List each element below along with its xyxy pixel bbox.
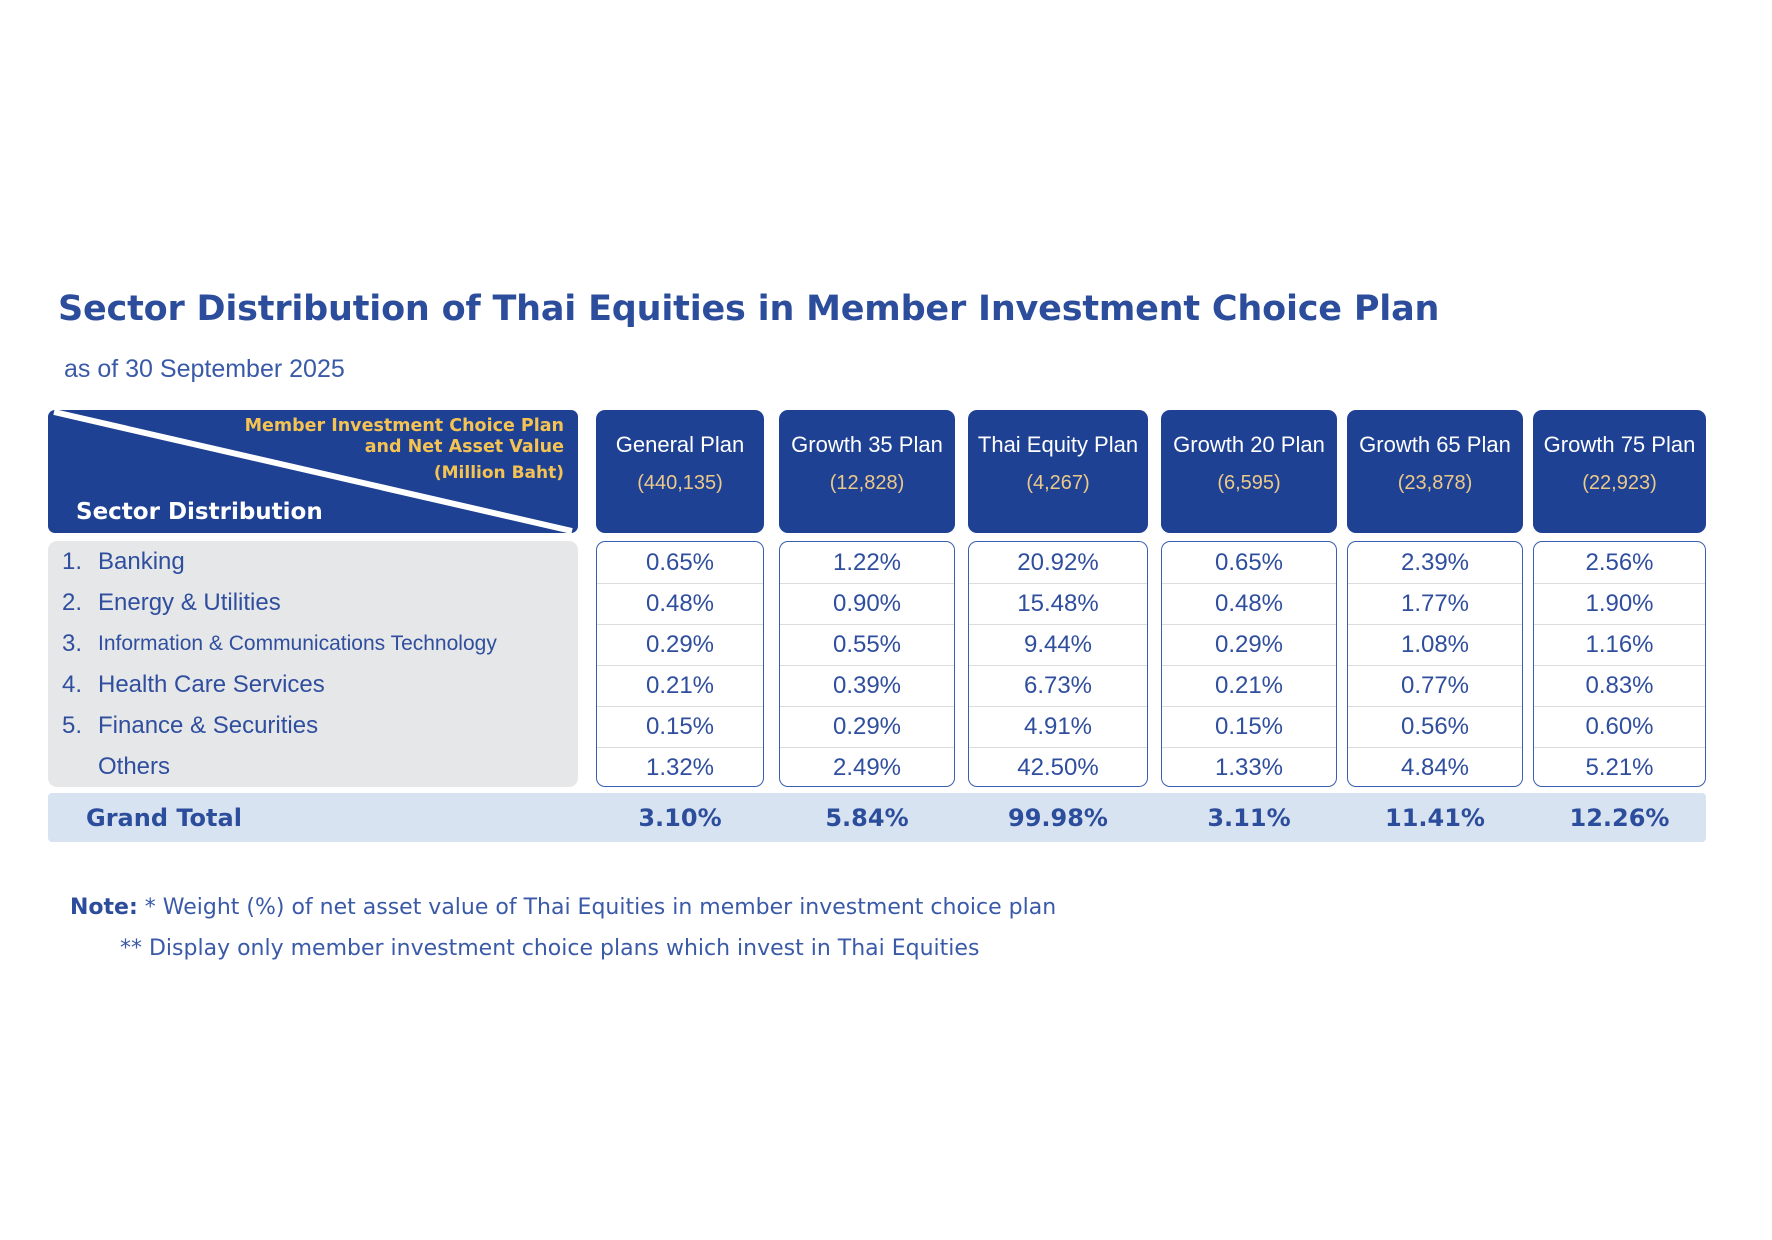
corner-header-unit: (Million Baht): [245, 463, 564, 484]
column-header-name: Growth 35 Plan: [791, 432, 943, 458]
table-cell: 1.32%: [597, 747, 763, 788]
page-title: Sector Distribution of Thai Equities in …: [58, 289, 1439, 329]
column-header-growth-75-plan: Growth 75 Plan (22,923): [1533, 410, 1706, 533]
corner-header-line1: Member Investment Choice Plan: [245, 416, 564, 437]
column-header-nav: (23,878): [1398, 472, 1473, 495]
corner-header-line2: and Net Asset Value: [245, 437, 564, 458]
sector-distribution-table: Member Investment Choice Plan and Net As…: [48, 410, 1706, 865]
table-cell: 42.50%: [969, 747, 1147, 788]
table-cell: 0.29%: [780, 706, 954, 747]
table-cell: 20.92%: [969, 542, 1147, 583]
grand-total-cell: 3.10%: [596, 793, 764, 842]
grand-total-row: Grand Total 3.10% 5.84% 99.98% 3.11% 11.…: [48, 793, 1706, 842]
data-column-growth-65-plan: 2.39% 1.77% 1.08% 0.77% 0.56% 4.84%: [1347, 541, 1523, 787]
corner-header-cell: Member Investment Choice Plan and Net As…: [48, 410, 578, 533]
table-row-label-ict: 3. Information & Communications Technolo…: [48, 623, 578, 664]
corner-header-axis-label: Member Investment Choice Plan and Net As…: [245, 416, 564, 483]
sector-label-column: 1. Banking 2. Energy & Utilities 3. Info…: [48, 541, 578, 787]
table-cell: 4.84%: [1348, 747, 1522, 788]
table-cell: 0.83%: [1534, 665, 1705, 706]
table-row-label-health-care-services: 4. Health Care Services: [48, 664, 578, 705]
data-column-growth-35-plan: 1.22% 0.90% 0.55% 0.39% 0.29% 2.49%: [779, 541, 955, 787]
table-cell: 0.65%: [597, 542, 763, 583]
table-cell: 0.48%: [1162, 583, 1336, 624]
table-cell: 1.77%: [1348, 583, 1522, 624]
table-cell: 0.29%: [597, 624, 763, 665]
grand-total-cell: 99.98%: [968, 793, 1148, 842]
column-header-thai-equity-plan: Thai Equity Plan (4,267): [968, 410, 1148, 533]
row-number: 3.: [62, 630, 98, 658]
table-cell: 5.21%: [1534, 747, 1705, 788]
note-text-1: * Weight (%) of net asset value of Thai …: [138, 895, 1056, 920]
table-cell: 1.16%: [1534, 624, 1705, 665]
row-number: 2.: [62, 589, 98, 617]
table-cell: 6.73%: [969, 665, 1147, 706]
data-column-growth-20-plan: 0.65% 0.48% 0.29% 0.21% 0.15% 1.33%: [1161, 541, 1337, 787]
row-label: Health Care Services: [98, 671, 325, 699]
row-number: 1.: [62, 548, 98, 576]
row-label: Others: [98, 753, 170, 781]
column-header-name: Growth 20 Plan: [1173, 432, 1325, 458]
table-cell: 0.48%: [597, 583, 763, 624]
note-label: Note:: [70, 895, 138, 920]
column-header-name: General Plan: [616, 432, 744, 458]
column-header-nav: (6,595): [1217, 472, 1280, 495]
note-line-2: ** Display only member investment choice…: [120, 936, 1056, 961]
table-cell: 0.56%: [1348, 706, 1522, 747]
table-row-label-energy-utilities: 2. Energy & Utilities: [48, 582, 578, 623]
column-header-name: Growth 65 Plan: [1359, 432, 1511, 458]
data-column-thai-equity-plan: 20.92% 15.48% 9.44% 6.73% 4.91% 42.50%: [968, 541, 1148, 787]
column-header-general-plan: General Plan (440,135): [596, 410, 764, 533]
table-cell: 1.33%: [1162, 747, 1336, 788]
column-header-name: Thai Equity Plan: [978, 432, 1138, 458]
grand-total-cell: 5.84%: [779, 793, 955, 842]
column-header-nav: (12,828): [830, 472, 905, 495]
table-cell: 1.08%: [1348, 624, 1522, 665]
column-header-growth-20-plan: Growth 20 Plan (6,595): [1161, 410, 1337, 533]
column-header-nav: (4,267): [1026, 472, 1089, 495]
row-number: 4.: [62, 671, 98, 699]
table-row-label-finance-securities: 5. Finance & Securities: [48, 705, 578, 746]
data-column-growth-75-plan: 2.56% 1.90% 1.16% 0.83% 0.60% 5.21%: [1533, 541, 1706, 787]
row-label: Energy & Utilities: [98, 589, 281, 617]
table-cell: 1.22%: [780, 542, 954, 583]
table-cell: 0.77%: [1348, 665, 1522, 706]
poster-page: Sector Distribution of Thai Equities in …: [0, 0, 1772, 1240]
as-of-date: as of 30 September 2025: [64, 355, 345, 384]
table-row-label-banking: 1. Banking: [48, 541, 578, 582]
column-header-growth-65-plan: Growth 65 Plan (23,878): [1347, 410, 1523, 533]
table-cell: 0.55%: [780, 624, 954, 665]
table-cell: 1.90%: [1534, 583, 1705, 624]
row-number: 5.: [62, 712, 98, 740]
row-label: Information & Communications Technology: [98, 632, 497, 656]
note-line-1: Note: * Weight (%) of net asset value of…: [70, 895, 1056, 920]
column-header-name: Growth 75 Plan: [1544, 432, 1696, 458]
grand-total-cell: 11.41%: [1347, 793, 1523, 842]
table-cell: 0.90%: [780, 583, 954, 624]
table-cell: 0.15%: [1162, 706, 1336, 747]
table-cell: 0.21%: [597, 665, 763, 706]
notes-block: Note: * Weight (%) of net asset value of…: [70, 895, 1056, 961]
table-cell: 9.44%: [969, 624, 1147, 665]
table-cell: 0.65%: [1162, 542, 1336, 583]
data-column-general-plan: 0.65% 0.48% 0.29% 0.21% 0.15% 1.32%: [596, 541, 764, 787]
table-cell: 0.21%: [1162, 665, 1336, 706]
grand-total-cell: 12.26%: [1533, 793, 1706, 842]
column-header-nav: (440,135): [637, 472, 723, 495]
row-label: Finance & Securities: [98, 712, 318, 740]
grand-total-cell: 3.11%: [1161, 793, 1337, 842]
column-header-nav: (22,923): [1582, 472, 1657, 495]
table-cell: 0.15%: [597, 706, 763, 747]
table-cell: 0.39%: [780, 665, 954, 706]
table-cell: 0.29%: [1162, 624, 1336, 665]
table-cell: 2.56%: [1534, 542, 1705, 583]
row-label: Banking: [98, 548, 185, 576]
grand-total-label: Grand Total: [86, 793, 242, 842]
table-cell: 2.39%: [1348, 542, 1522, 583]
table-row-label-others: Others: [48, 746, 578, 787]
corner-header-row-axis-label: Sector Distribution: [76, 499, 323, 525]
table-cell: 15.48%: [969, 583, 1147, 624]
table-cell: 0.60%: [1534, 706, 1705, 747]
table-cell: 2.49%: [780, 747, 954, 788]
table-cell: 4.91%: [969, 706, 1147, 747]
column-header-growth-35-plan: Growth 35 Plan (12,828): [779, 410, 955, 533]
